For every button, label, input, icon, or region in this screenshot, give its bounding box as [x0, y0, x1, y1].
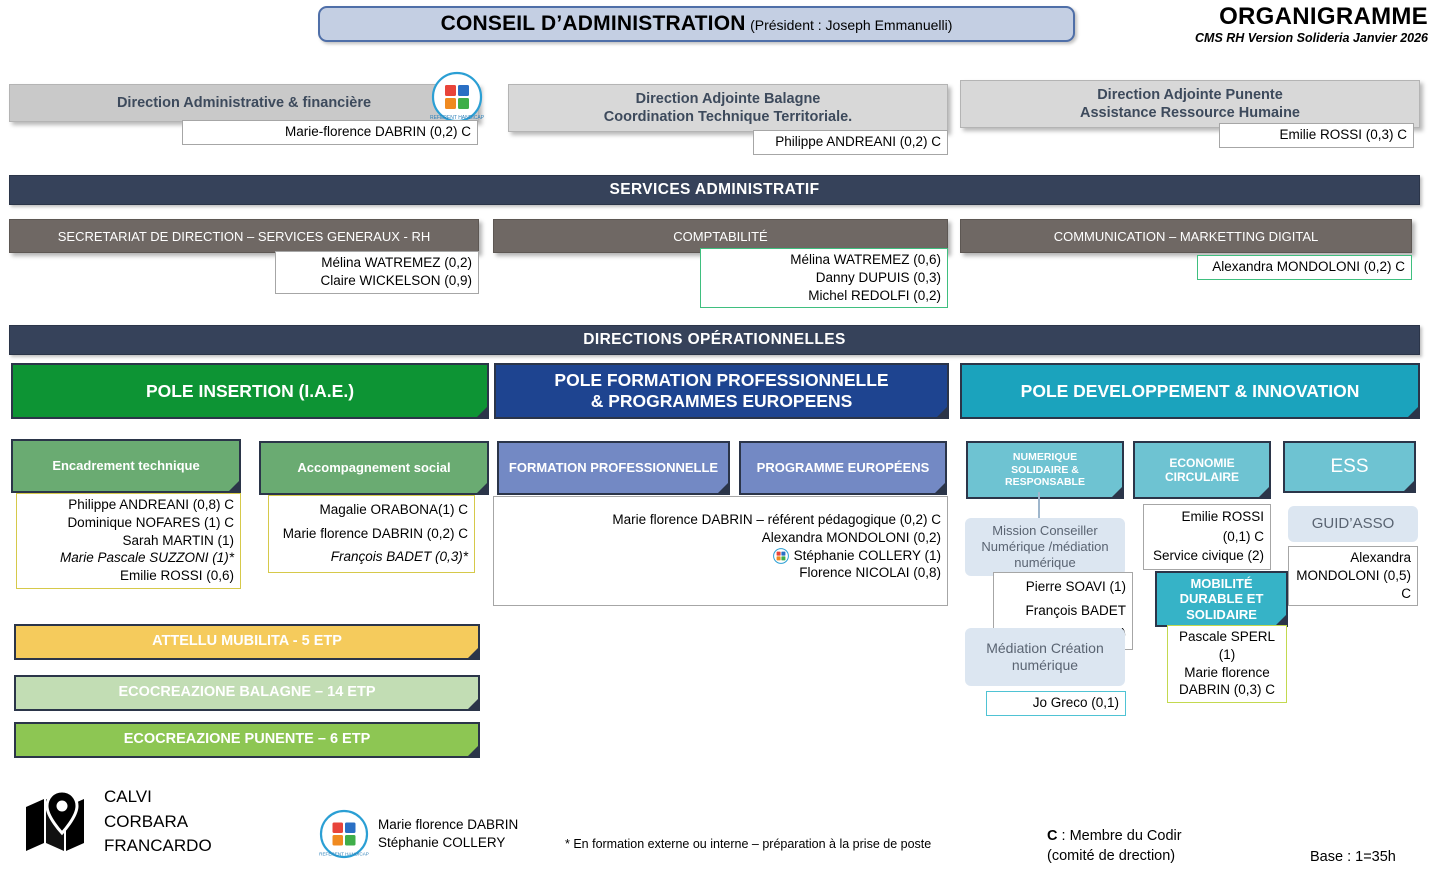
economie-circulaire-title-line1: ECONOMIE: [1165, 456, 1239, 470]
mediation-creation-numerique-title: Médiation Création numérique: [986, 640, 1104, 675]
person-name: Marie florence: [1174, 664, 1280, 682]
direction-adjointe-balagne-bar: Direction Adjointe Balagne Coordination …: [508, 84, 948, 132]
guidasso-people: Alexandra MONDOLONI (0,5) C: [1288, 546, 1418, 606]
direction-adjointe-punente-title-line1: Direction Adjointe Punente: [1080, 86, 1300, 104]
mobilite-durable-solidaire-banner: MOBILITÉ DURABLE ET SOLIDAIRE: [1155, 571, 1288, 627]
direction-administrative-financiere-bar: Direction Administrative & financière: [9, 84, 479, 122]
pole-formation-people: Marie florence DABRIN – référent pédagog…: [493, 496, 948, 606]
svg-text:REFERENT HANDICAP: REFERENT HANDICAP: [319, 852, 369, 857]
referent-handicap-block: REFERENT HANDICAP Marie florence DABRIN …: [318, 808, 578, 860]
numerique-solidaire-banner: NUMERIQUE SOLIDAIRE & RESPONSABLE: [966, 441, 1124, 499]
direction-adjointe-balagne-title-line2: Coordination Technique Territoriale.: [604, 108, 852, 126]
chantier-label: ECOCREAZIONE BALAGNE – 14 ETP: [118, 684, 375, 701]
document-title-block: ORGANIGRAMME CMS RH Version Solideria Ja…: [1120, 3, 1428, 45]
communication-marketing-header: COMMUNICATION – MARKETTING DIGITAL: [960, 219, 1412, 253]
person-name: Dominique NOFARES (1) C: [23, 514, 234, 532]
chantier-label: ECOCREAZIONE PUNENTE – 6 ETP: [124, 731, 371, 748]
referent-handicap-people: Marie florence DABRIN Stéphanie COLLERY: [378, 816, 518, 852]
direction-adjointe-balagne-people: Philippe ANDREANI (0,2) C: [753, 130, 948, 155]
conseil-administration-title: CONSEIL D’ADMINISTRATION: [441, 12, 746, 35]
person-name: Pierre SOAVI (1): [1000, 575, 1126, 599]
direction-adjointe-balagne-title: Direction Adjointe Balagne Coordination …: [604, 90, 852, 126]
pole-formation-title: POLE FORMATION PROFESSIONNELLE & PROGRAM…: [554, 370, 888, 412]
chantier-ecocreazione-punente: ECOCREAZIONE PUNENTE – 6 ETP: [14, 722, 480, 758]
referent-handicap-icon: REFERENT HANDICAP: [318, 808, 370, 860]
person-name: Alexandra MONDOLONI (0,2): [500, 529, 941, 547]
person-name: François BADET (0,3)*: [275, 545, 468, 569]
numerique-connector: [1038, 492, 1040, 520]
person-name: Marie florence DABRIN – référent pédagog…: [500, 511, 941, 529]
mobilite-line2: DURABLE ET: [1180, 591, 1264, 607]
communication-marketing-title: COMMUNICATION – MARKETTING DIGITAL: [1054, 229, 1319, 244]
person-name: Danny DUPUIS (0,3): [707, 269, 941, 287]
referent-handicap-icon: [773, 548, 789, 564]
encadrement-technique-title: Encadrement technique: [52, 458, 199, 474]
accompagnement-social-people: Magalie ORABONA(1) C Marie florence DABR…: [268, 495, 475, 573]
person-name: Marie Pascale SUZZONI (1)*: [23, 549, 234, 567]
person-name: Emilie ROSSI (0,3) C: [1226, 126, 1407, 144]
guidasso-title: GUID’ASSO: [1312, 515, 1395, 534]
services-administratif-label: SERVICES ADMINISTRATIF: [609, 181, 819, 199]
mobilite-line1: MOBILITÉ: [1180, 576, 1264, 592]
numerique-solidaire-title-line2: SOLIDAIRE &: [1005, 464, 1085, 477]
pole-formation-title-line1: POLE FORMATION PROFESSIONNELLE: [554, 370, 888, 391]
accompagnement-social-title: Accompagnement social: [297, 460, 450, 476]
mission-line2: Numérique /médiation: [981, 539, 1108, 555]
mediation-creation-numerique-people: Jo Greco (0,1): [986, 691, 1126, 716]
person-name: Stéphanie COLLERY (1): [794, 547, 941, 565]
person-name: Marie florence DABRIN (0,2) C: [275, 522, 468, 546]
economie-circulaire-title: ECONOMIE CIRCULAIRE: [1165, 456, 1239, 485]
mission-line1: Mission Conseiller: [981, 523, 1108, 539]
pole-insertion-title: POLE INSERTION (I.A.E.): [146, 381, 354, 402]
codir-legend: C : Membre du Codir (comité de drection): [1047, 826, 1287, 867]
person-name: Emilie ROSSI (0,1) C: [1150, 507, 1264, 546]
codir-letter: C: [1047, 828, 1057, 844]
document-version: CMS RH Version Solideria Janvier 2026: [1120, 31, 1428, 45]
mission-conseiller-numerique-title: Mission Conseiller Numérique /médiation …: [981, 523, 1108, 572]
pole-formation-banner: POLE FORMATION PROFESSIONNELLE & PROGRAM…: [494, 363, 949, 419]
pole-developpement-banner: POLE DEVELOPPEMENT & INNOVATION: [960, 363, 1420, 419]
locations-block: CALVI CORBARA FRANCARDO: [22, 785, 282, 859]
direction-adjointe-punente-title: Direction Adjointe Punente Assistance Re…: [1080, 86, 1300, 122]
services-administratif-band: SERVICES ADMINISTRATIF: [9, 175, 1420, 205]
locations-list: CALVI CORBARA FRANCARDO: [104, 785, 212, 859]
base-legend: Base : 1=35h: [1310, 849, 1430, 865]
footnote-text: * En formation externe ou interne – prép…: [565, 837, 931, 851]
person-name: Pascale SPERL (1): [1174, 628, 1280, 664]
person-name: DABRIN (0,3) C: [1174, 681, 1280, 699]
economie-circulaire-banner: ECONOMIE CIRCULAIRE: [1133, 441, 1271, 499]
directions-operationnelles-label: DIRECTIONS OPÉRATIONNELLES: [583, 331, 845, 349]
person-name: Marie-florence DABRIN (0,2) C: [189, 123, 471, 141]
organigramme-page: CONSEIL D’ADMINISTRATION (Président : Jo…: [0, 0, 1432, 877]
pole-insertion-banner: POLE INSERTION (I.A.E.): [11, 363, 489, 419]
direction-adjointe-punente-people: Emilie ROSSI (0,3) C: [1219, 123, 1414, 148]
communication-marketing-people: Alexandra MONDOLONI (0,2) C: [1197, 255, 1412, 280]
mediation-line1: Médiation Création: [986, 640, 1104, 658]
formation-professionnelle-title: FORMATION PROFESSIONNELLE: [509, 460, 718, 476]
programme-europeens-title: PROGRAMME EUROPÉENS: [757, 460, 930, 476]
secretariat-direction-people: Mélina WATREMEZ (0,2) Claire WICKELSON (…: [275, 251, 479, 294]
mediation-line2: numérique: [986, 657, 1104, 675]
pole-formation-title-line2: & PROGRAMMES EUROPEENS: [554, 391, 888, 412]
economie-circulaire-people: Emilie ROSSI (0,1) C Service civique (2): [1143, 504, 1271, 570]
codir-legend-text: : Membre du Codir: [1057, 828, 1181, 844]
person-name: Alexandra: [1295, 549, 1411, 567]
map-pin-icon: [22, 791, 94, 853]
document-title: ORGANIGRAMME: [1120, 3, 1428, 31]
person-name: Philippe ANDREANI (0,8) C: [23, 496, 234, 514]
footnote-formation: * En formation externe ou interne – prép…: [565, 836, 995, 853]
codir-legend-line2: (comité de drection): [1047, 846, 1287, 866]
accompagnement-social-banner: Accompagnement social: [259, 441, 489, 495]
chantier-ecocreazione-balagne: ECOCREAZIONE BALAGNE – 14 ETP: [14, 675, 480, 711]
chantier-attellu-mubilita: ATTELLU MUBILITA - 5 ETP: [14, 624, 480, 660]
direction-administrative-financiere-title: Direction Administrative & financière: [117, 94, 371, 112]
codir-legend-line1: C : Membre du Codir: [1047, 826, 1287, 846]
chantier-label: ATTELLU MUBILITA - 5 ETP: [152, 633, 342, 650]
secretariat-direction-header: SECRETARIAT DE DIRECTION – SERVICES GENE…: [9, 219, 479, 253]
encadrement-technique-banner: Encadrement technique: [11, 439, 241, 493]
person-name: Philippe ANDREANI (0,2) C: [760, 133, 941, 151]
numerique-solidaire-title: NUMERIQUE SOLIDAIRE & RESPONSABLE: [1005, 451, 1085, 489]
pole-developpement-title: POLE DEVELOPPEMENT & INNOVATION: [1021, 381, 1360, 402]
location-name: CORBARA: [104, 810, 212, 835]
person-name: Alexandra MONDOLONI (0,2) C: [1204, 258, 1405, 276]
person-name: Stéphanie COLLERY: [378, 834, 518, 852]
guidasso-box: GUID’ASSO: [1288, 506, 1418, 542]
comptabilite-people: Mélina WATREMEZ (0,6) Danny DUPUIS (0,3)…: [700, 248, 948, 308]
person-row: Stéphanie COLLERY (1): [500, 547, 941, 565]
person-name: Jo Greco (0,1): [993, 694, 1119, 712]
person-name: Claire WICKELSON (0,9): [282, 272, 472, 290]
secretariat-direction-title: SECRETARIAT DE DIRECTION – SERVICES GENE…: [58, 229, 431, 244]
base-legend-text: Base : 1=35h: [1310, 849, 1396, 865]
mediation-creation-numerique-box: Médiation Création numérique: [965, 628, 1125, 686]
person-name: Service civique (2): [1150, 546, 1264, 566]
conseil-administration-president: (Président : Joseph Emmanuelli): [750, 17, 952, 33]
mobilite-line3: SOLIDAIRE: [1180, 607, 1264, 623]
location-name: FRANCARDO: [104, 834, 212, 859]
encadrement-technique-people: Philippe ANDREANI (0,8) C Dominique NOFA…: [16, 493, 241, 589]
person-name: Florence NICOLAI (0,8): [500, 564, 941, 582]
direction-adjointe-punente-bar: Direction Adjointe Punente Assistance Re…: [960, 80, 1420, 128]
person-name: Magalie ORABONA(1) C: [275, 498, 468, 522]
person-name: Michel REDOLFI (0,2): [707, 287, 941, 305]
formation-professionnelle-banner: FORMATION PROFESSIONNELLE: [497, 441, 730, 495]
direction-administrative-financiere-people: Marie-florence DABRIN (0,2) C: [182, 120, 478, 145]
conseil-administration-title-wrap: CONSEIL D’ADMINISTRATION (Président : Jo…: [441, 12, 953, 36]
ess-title: ESS: [1330, 456, 1368, 479]
numerique-solidaire-title-line3: RESPONSABLE: [1005, 476, 1085, 489]
person-name: Sarah MARTIN (1): [23, 532, 234, 550]
person-name: MONDOLONI (0,5) C: [1295, 567, 1411, 603]
directions-operationnelles-band: DIRECTIONS OPÉRATIONNELLES: [9, 325, 1420, 355]
ess-banner: ESS: [1283, 441, 1416, 493]
location-name: CALVI: [104, 785, 212, 810]
person-name: Marie florence DABRIN: [378, 816, 518, 834]
person-name: Mélina WATREMEZ (0,6): [707, 251, 941, 269]
mobilite-durable-solidaire-people: Pascale SPERL (1) Marie florence DABRIN …: [1167, 625, 1287, 703]
mobilite-durable-title: MOBILITÉ DURABLE ET SOLIDAIRE: [1180, 576, 1264, 623]
person-name: Mélina WATREMEZ (0,2): [282, 254, 472, 272]
conseil-administration-box: CONSEIL D’ADMINISTRATION (Président : Jo…: [318, 6, 1075, 42]
referent-handicap-icon: REFERENT HANDICAP: [430, 70, 484, 124]
direction-adjointe-punente-title-line2: Assistance Ressource Humaine: [1080, 104, 1300, 122]
numerique-solidaire-title-line1: NUMERIQUE: [1005, 451, 1085, 464]
direction-adjointe-balagne-title-line1: Direction Adjointe Balagne: [604, 90, 852, 108]
mission-conseiller-numerique-box: Mission Conseiller Numérique /médiation …: [965, 518, 1125, 576]
programme-europeens-banner: PROGRAMME EUROPÉENS: [739, 441, 947, 495]
economie-circulaire-title-line2: CIRCULAIRE: [1165, 470, 1239, 484]
comptabilite-title: COMPTABILITÉ: [673, 229, 767, 244]
person-name: Emilie ROSSI (0,6): [23, 567, 234, 585]
mission-line3: numérique: [981, 555, 1108, 571]
